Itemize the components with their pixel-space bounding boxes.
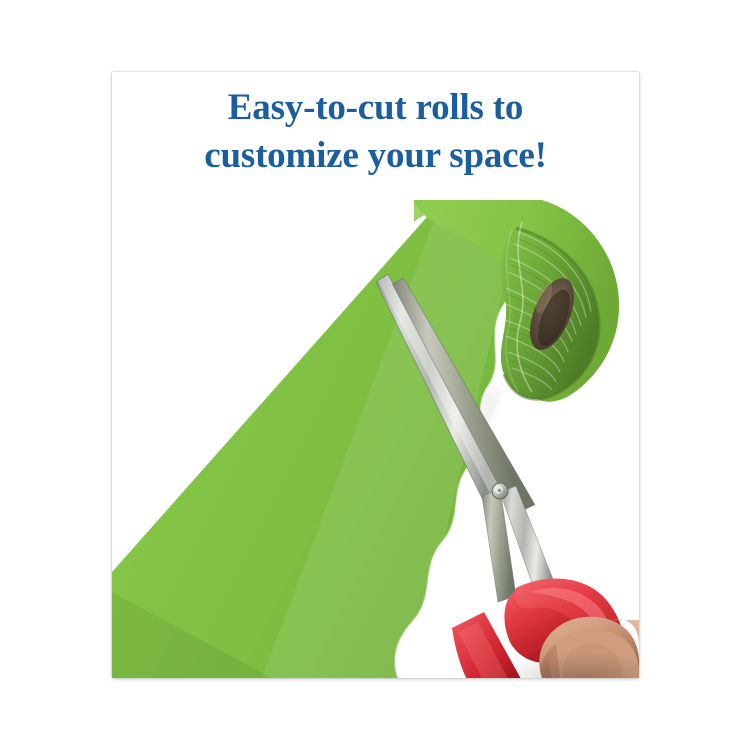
headline-line-2: customize your space! [112,132,639,180]
scissors-pivot-dot [498,489,502,493]
headline-line-1: Easy-to-cut rolls to [112,84,639,132]
hand-contact-shadow [492,652,639,678]
product-photo-card: Easy-to-cut rolls to customize your spac… [112,72,639,678]
screenshot-root: Easy-to-cut rolls to customize your spac… [0,0,750,750]
page-title: Easy-to-cut rolls to customize your spac… [112,84,639,180]
